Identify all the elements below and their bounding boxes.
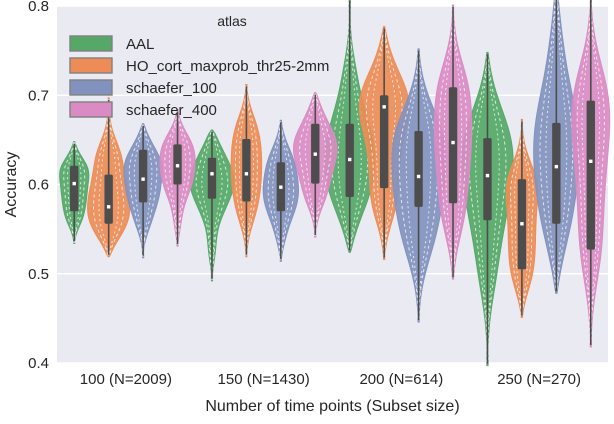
iqr-box [414,131,422,207]
ytick-label-0.8: 0.8 [28,0,49,15]
median-marker [279,185,282,188]
legend-swatch [70,80,112,95]
median-marker [73,182,76,185]
violin-ho-cort-maxprob-thr25-2mm-group-2 [231,85,261,257]
median-marker [417,175,420,178]
legend-swatch [70,58,112,73]
violin-schaefer-400-group-2 [293,93,337,238]
median-marker [107,205,110,208]
violin-schaefer-100-group-4 [534,0,579,293]
median-marker [486,174,489,177]
xtick-label-3: 200 (N=614) [359,371,443,388]
xtick-label-1: 100 (N=2009) [80,371,172,388]
iqr-box [380,95,388,188]
median-marker [141,177,144,180]
x-axis-title: Number of time points (Subset size) [205,398,459,415]
violin-schaefer-400-group-3 [434,5,471,279]
ytick-label-0.4: 0.4 [28,355,49,372]
legend-label: AAL [126,36,154,53]
iqr-box [208,158,216,199]
median-marker [210,172,213,175]
legend-item-aal[interactable]: AAL [70,36,154,53]
iqr-box [242,139,250,201]
median-marker [589,160,592,163]
legend-swatch [70,36,112,51]
legend-item-schaefer-400[interactable]: schaefer_400 [70,102,217,119]
violin-ho-cort-maxprob-thr25-2mm-group-1 [88,98,130,257]
legend-label: schaefer_100 [126,80,217,97]
ytick-label-0.5: 0.5 [28,266,49,283]
median-marker [176,164,179,167]
violin-schaefer-400-group-4 [572,0,610,347]
iqr-box [104,175,112,224]
y-axis-title: Accuracy [3,152,20,218]
legend-item-ho-cort-maxprob-thr25-2mm[interactable]: HO_cort_maxprob_thr25-2mm [70,58,329,75]
iqr-box [587,101,595,250]
violin-aal-group-1 [60,142,89,244]
violin-schaefer-100-group-2 [263,120,298,261]
legend-swatch [70,102,112,117]
iqr-box [70,166,78,212]
iqr-box [449,87,457,203]
legend-item-schaefer-100[interactable]: schaefer_100 [70,80,217,97]
iqr-box [483,138,491,220]
median-marker [245,172,248,175]
iqr-box [552,123,560,224]
violin-schaefer-100-group-1 [124,124,162,258]
violin-chart-figure: 0.40.50.60.70.8Accuracy100 (N=2009)150 (… [0,0,614,424]
median-marker [451,141,454,144]
median-marker [520,222,523,225]
ytick-label-0.7: 0.7 [28,87,49,104]
median-marker [314,152,317,155]
median-marker [348,158,351,161]
ytick-label-0.6: 0.6 [28,177,49,194]
legend-title: atlas [217,13,247,29]
median-marker [382,105,385,108]
violin-schaefer-400-group-1 [160,110,195,247]
median-marker [555,165,558,168]
violin-plot-canvas: 0.40.50.60.70.8Accuracy100 (N=2009)150 (… [0,0,614,424]
iqr-box [139,150,147,203]
xtick-label-2: 150 (N=1430) [218,371,310,388]
legend-label: schaefer_400 [126,102,217,119]
xtick-label-4: 250 (N=270) [497,371,581,388]
legend-label: HO_cort_maxprob_thr25-2mm [126,58,329,75]
violin-aal-group-2 [190,130,234,281]
